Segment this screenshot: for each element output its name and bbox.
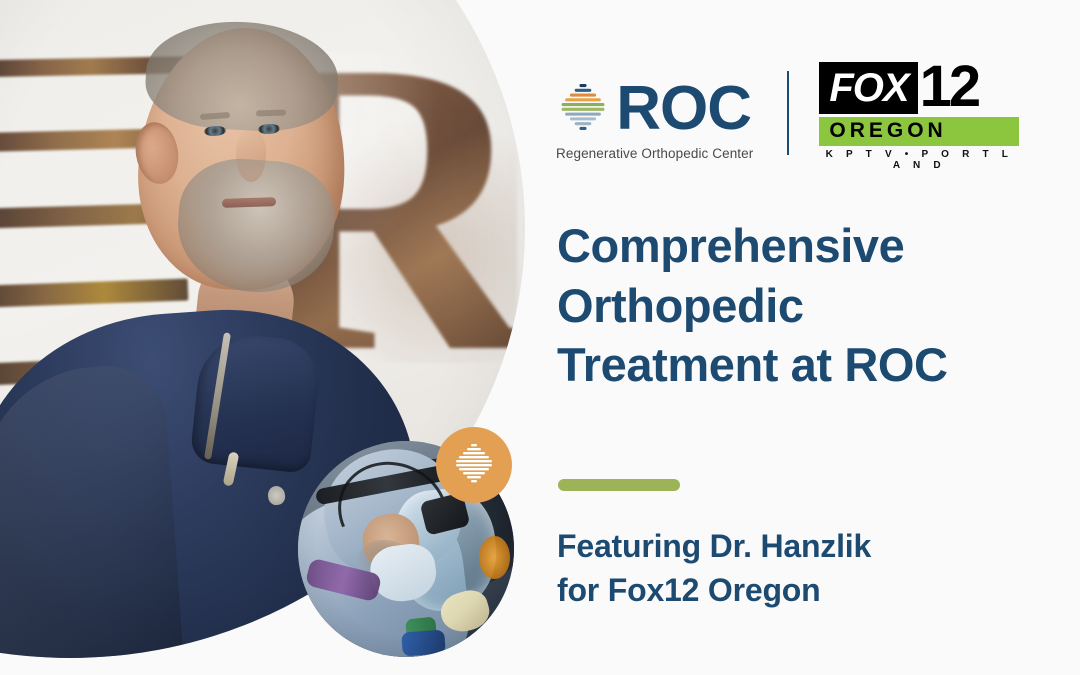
fox-channel-number: 12 [920, 62, 979, 114]
logo-divider [787, 71, 789, 155]
content-panel: ROC Regenerative Orthopedic Center FOX 1… [540, 0, 1080, 675]
fox12-top-row: FOX 12 [819, 62, 1019, 114]
subject-nose [236, 130, 266, 182]
slide-canvas: R [0, 0, 1080, 675]
headline-line-1: Comprehensive [557, 216, 1057, 276]
accent-divider [558, 479, 680, 491]
fox12-logo[interactable]: FOX 12 OREGON K P T V • P O R T L A N D [819, 62, 1019, 171]
headline-line-2: Orthopedic [557, 276, 1057, 336]
subhead-line-2: for Fox12 Oregon [557, 569, 1027, 613]
subtitle: Featuring Dr. Hanzlik for Fox12 Oregon [557, 525, 1027, 612]
headline-line-3: Treatment at ROC [557, 335, 1057, 395]
fox-wordmark: FOX [819, 62, 917, 114]
page-title: Comprehensive Orthopedic Treatment at RO… [557, 216, 1057, 395]
roc-tagline: Regenerative Orthopedic Center [556, 146, 753, 161]
roc-logo-top: ROC [558, 78, 751, 140]
fox-region-bar: OREGON [819, 117, 1019, 146]
roc-wordmark: ROC [616, 78, 751, 140]
roc-striped-circle-icon [558, 81, 608, 137]
roc-logo[interactable]: ROC Regenerative Orthopedic Center [556, 78, 753, 161]
logo-lockup: ROC Regenerative Orthopedic Center FOX 1… [556, 62, 1019, 177]
roc-striped-circle-icon [453, 442, 495, 488]
subhead-line-1: Featuring Dr. Hanzlik [557, 525, 1027, 569]
subject-mouth [222, 197, 276, 208]
fox-callsign: K P T V • P O R T L A N D [819, 149, 1019, 171]
roc-badge-circle [436, 427, 512, 503]
subject-eyebrow [256, 109, 286, 116]
